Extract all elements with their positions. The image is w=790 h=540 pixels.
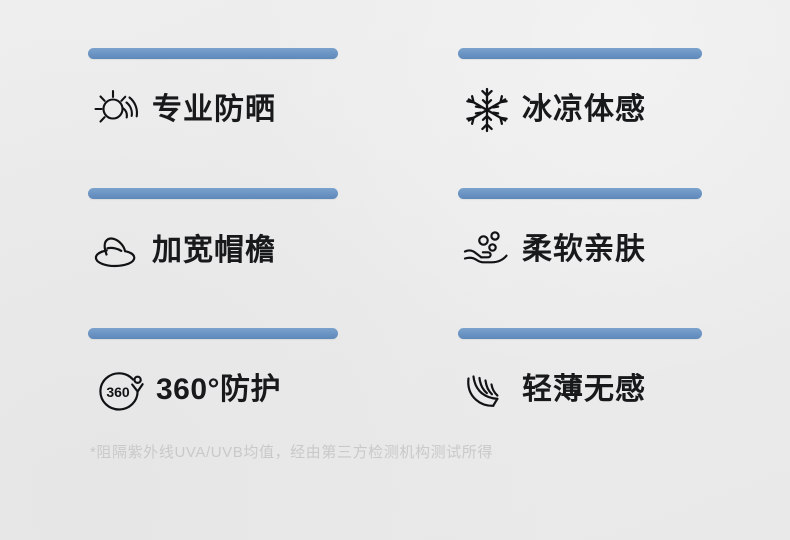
accent-bar <box>88 188 338 199</box>
feature-label: 冰凉体感 <box>522 95 646 125</box>
feature-row: 加宽帽檐 <box>88 221 398 281</box>
feature-row: 360 360°防护 <box>88 361 398 419</box>
hand-bubbles-icon <box>458 221 516 279</box>
accent-bar <box>458 328 702 339</box>
accent-bar <box>88 328 338 339</box>
feature-card-360-protection: 360 360°防护 <box>88 328 398 438</box>
feature-label: 轻薄无感 <box>522 375 646 405</box>
feature-label: 360°防护 <box>156 375 281 405</box>
360-degree-icon: 360 <box>92 361 150 419</box>
feature-card-soft-skin-friendly: 柔软亲肤 <box>458 188 768 298</box>
accent-bar <box>458 48 702 59</box>
feature-highlights-page: 专业防晒 <box>0 0 790 540</box>
feature-label: 柔软亲肤 <box>522 235 646 265</box>
feature-label: 专业防晒 <box>152 95 276 125</box>
feature-card-wide-brim: 加宽帽檐 <box>88 188 398 298</box>
snowflake-icon <box>458 81 516 139</box>
feature-card-sun-protection: 专业防晒 <box>88 48 398 158</box>
feather-icon <box>458 361 516 419</box>
sun-hat-icon <box>88 223 146 281</box>
feature-row: 轻薄无感 <box>458 361 768 419</box>
accent-bar <box>88 48 338 59</box>
feature-label: 加宽帽檐 <box>152 236 276 266</box>
feature-card-lightweight: 轻薄无感 <box>458 328 768 438</box>
accent-bar <box>458 188 702 199</box>
svg-text:360: 360 <box>106 384 130 400</box>
footnote-text: *阻隔紫外线UVA/UVB均值，经由第三方检测机构测试所得 <box>90 441 493 462</box>
feature-card-cooling-feel: 冰凉体感 <box>458 48 768 158</box>
feature-row: 柔软亲肤 <box>458 221 768 279</box>
sun-rays-icon <box>88 81 146 139</box>
feature-row: 专业防晒 <box>88 81 398 139</box>
feature-grid: 专业防晒 <box>0 0 790 430</box>
feature-row: 冰凉体感 <box>458 81 768 139</box>
